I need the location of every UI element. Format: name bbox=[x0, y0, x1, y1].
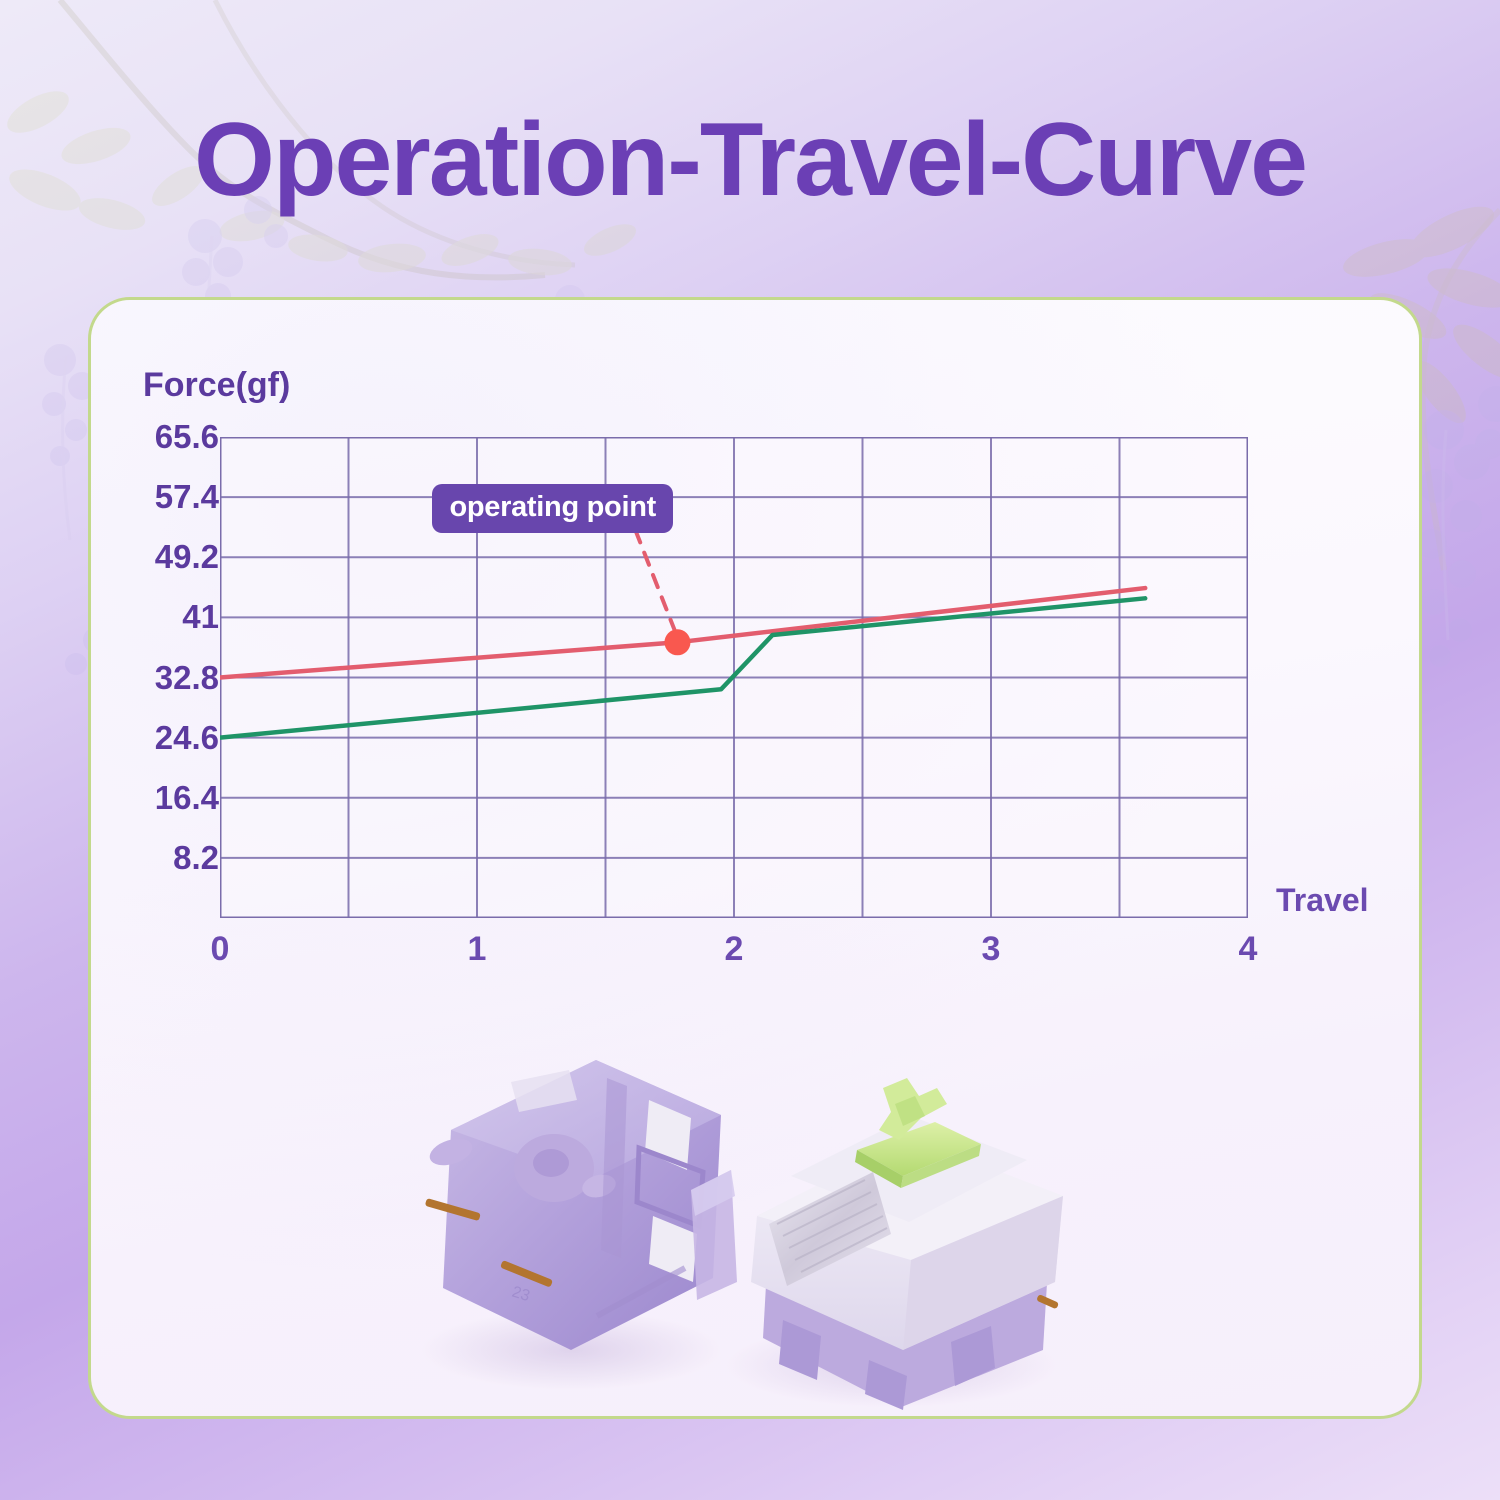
y-axis-ticks: 8.216.424.632.84149.257.465.6 bbox=[109, 300, 219, 1020]
operation-travel-chart: Force(gf) Travel 8.216.424.632.84149.257… bbox=[91, 300, 1422, 1020]
y-axis-tick-label: 41 bbox=[109, 598, 219, 636]
y-axis-tick-label: 24.6 bbox=[109, 719, 219, 757]
y-axis-tick-label: 16.4 bbox=[109, 779, 219, 817]
y-axis-tick-label: 32.8 bbox=[109, 659, 219, 697]
x-axis-tick-label: 4 bbox=[1239, 930, 1258, 969]
switch-bottom-view: 23 bbox=[425, 1060, 721, 1350]
y-axis-tick-label: 49.2 bbox=[109, 538, 219, 576]
x-axis-tick-label: 1 bbox=[468, 930, 487, 969]
y-axis-tick-label: 8.2 bbox=[109, 839, 219, 877]
operating-point-marker bbox=[664, 629, 690, 655]
chart-svg bbox=[220, 437, 1248, 918]
y-axis-tick-label: 65.6 bbox=[109, 418, 219, 456]
y-axis-tick-label: 57.4 bbox=[109, 478, 219, 516]
keyboard-switches-illustration: 23 bbox=[391, 1020, 1131, 1410]
page-title: Operation-Travel-Curve bbox=[0, 108, 1500, 212]
x-axis-tick-label: 0 bbox=[211, 930, 230, 969]
product-switches-image: 23 bbox=[391, 1020, 1131, 1410]
chart-card: Force(gf) Travel 8.216.424.632.84149.257… bbox=[88, 297, 1422, 1419]
operating-point-badge: operating point bbox=[432, 484, 673, 533]
x-axis-tick-label: 2 bbox=[725, 930, 744, 969]
x-axis-tick-label: 3 bbox=[982, 930, 1001, 969]
x-axis-title: Travel bbox=[1276, 882, 1369, 919]
plot-area bbox=[220, 437, 1248, 918]
